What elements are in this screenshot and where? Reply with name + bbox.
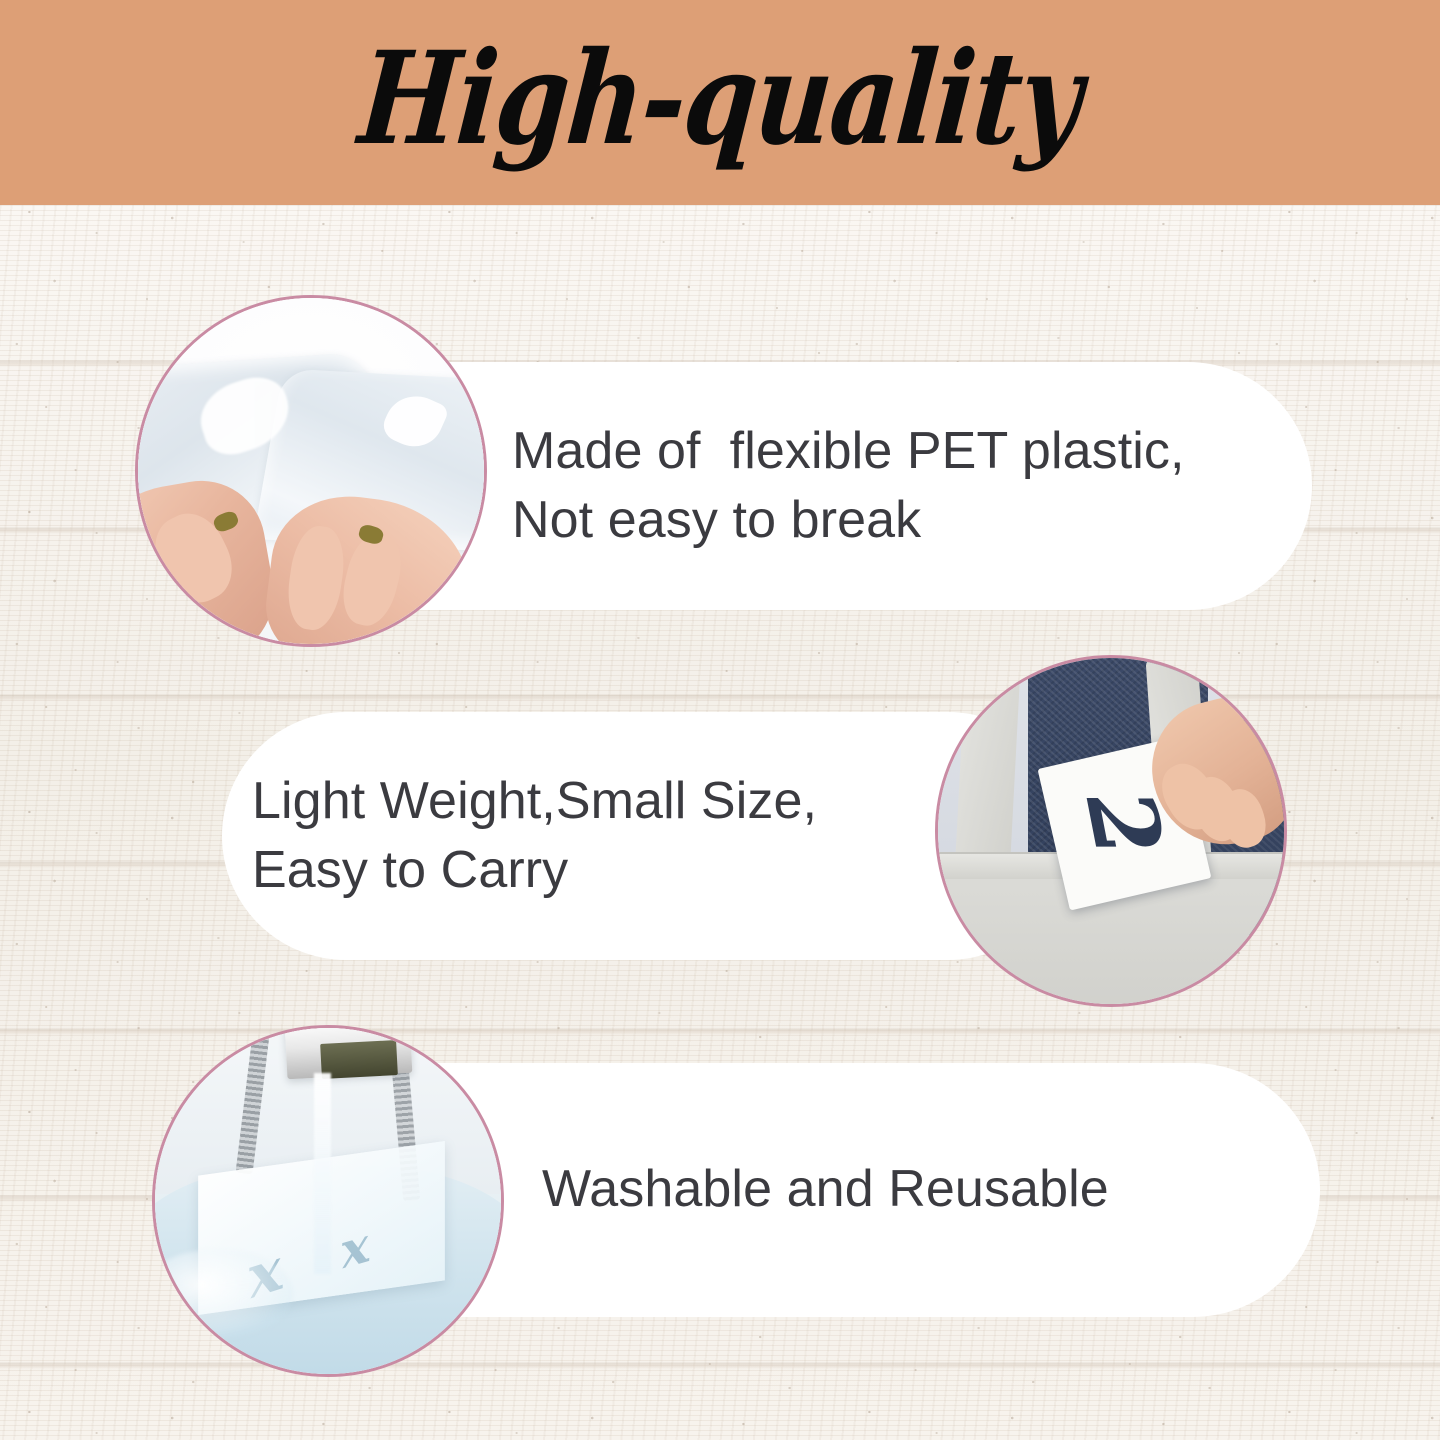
feature-image-card-placed-in-tote-bag-pocket: 2 <box>935 655 1287 1007</box>
page-title: High-quality <box>354 35 1085 171</box>
feature-text-line: Washable and Reusable <box>542 1155 1320 1224</box>
feature-text-line: Made of flexible PET plastic, <box>512 417 1312 486</box>
photo-card-under-faucet: х х <box>155 1028 501 1374</box>
feature-image-hands-bending-clear-pet-sheet <box>135 295 487 647</box>
feature-image-card-rinsed-under-faucet: х х <box>152 1025 504 1377</box>
feature-text-line: Not easy to break <box>512 486 1312 555</box>
water-stream <box>314 1073 331 1274</box>
faucet-spout-opening <box>320 1040 398 1079</box>
infographic-page: High-quality Made of flexible PET plasti… <box>0 0 1440 1440</box>
photo-card-into-tote: 2 <box>938 658 1284 1004</box>
handwritten-mark: х <box>337 1218 373 1281</box>
header-banner: High-quality <box>0 0 1440 205</box>
photo-hands-bending-sheet <box>138 298 484 644</box>
